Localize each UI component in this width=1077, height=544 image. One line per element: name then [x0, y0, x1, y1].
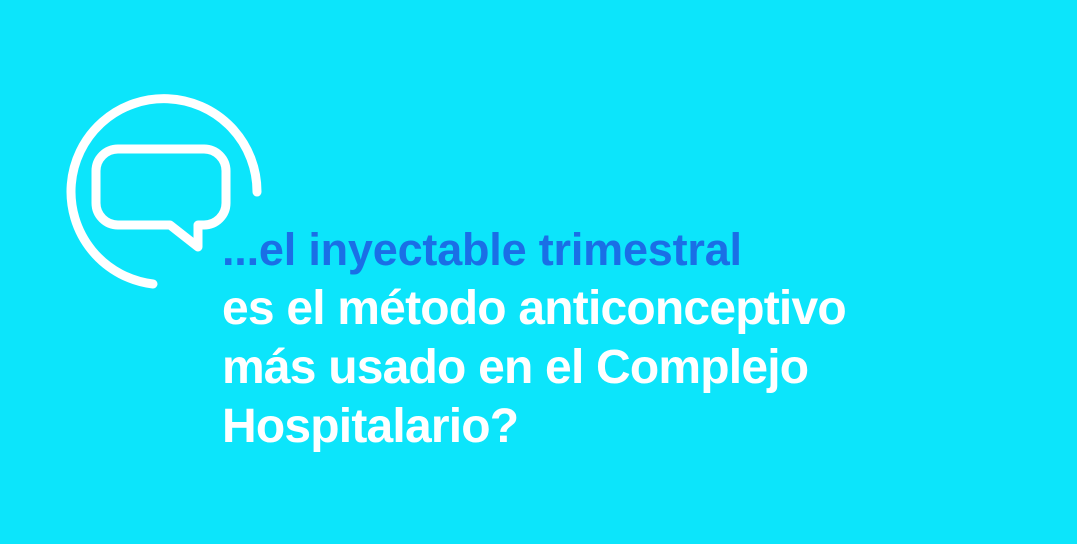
- headline-block: ...el inyectable trimestral es el método…: [222, 220, 1062, 456]
- headline-line-4: Hospitalario?: [222, 397, 1062, 456]
- speech-bubble-outline: [96, 149, 226, 247]
- headline-line-3: más usado en el Complejo: [222, 338, 1062, 397]
- headline-line-1: ...el inyectable trimestral: [222, 220, 1062, 279]
- headline-line-2: es el método anticonceptivo: [222, 279, 1062, 338]
- slide-canvas: ...el inyectable trimestral es el método…: [0, 0, 1077, 544]
